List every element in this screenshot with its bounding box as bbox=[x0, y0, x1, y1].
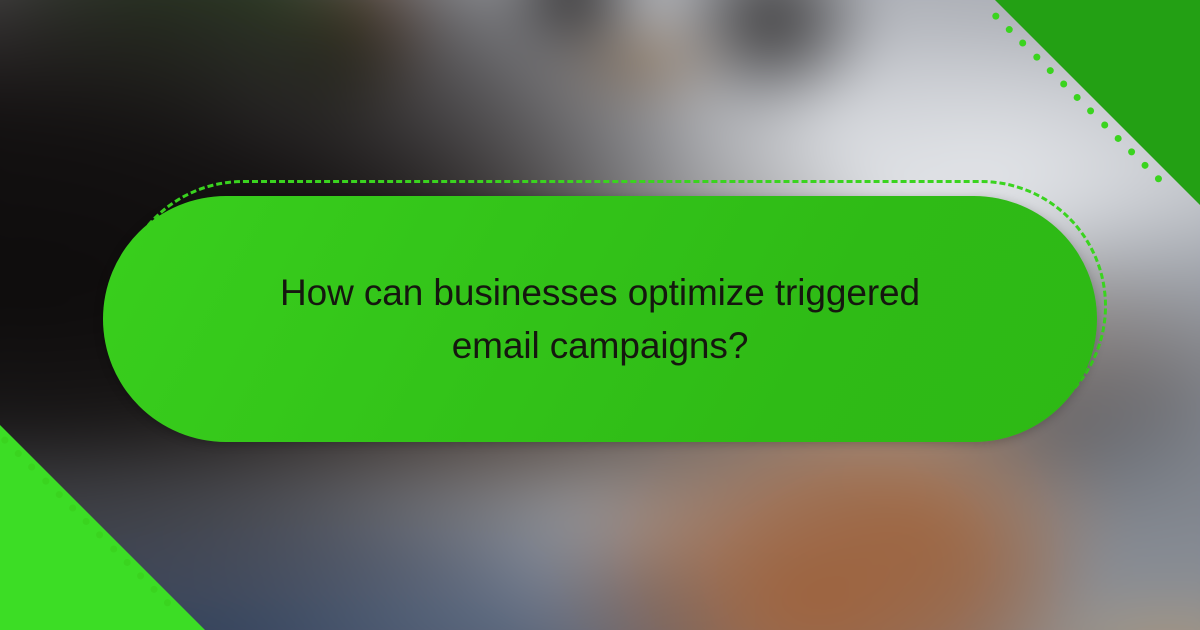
screenshot-canvas: How can businesses optimize triggered em… bbox=[0, 0, 1200, 630]
bottom-left-triangle bbox=[0, 425, 205, 630]
question-text: How can businesses optimize triggered em… bbox=[220, 266, 980, 373]
question-card: How can businesses optimize triggered em… bbox=[103, 196, 1097, 442]
top-right-triangle bbox=[995, 0, 1200, 205]
